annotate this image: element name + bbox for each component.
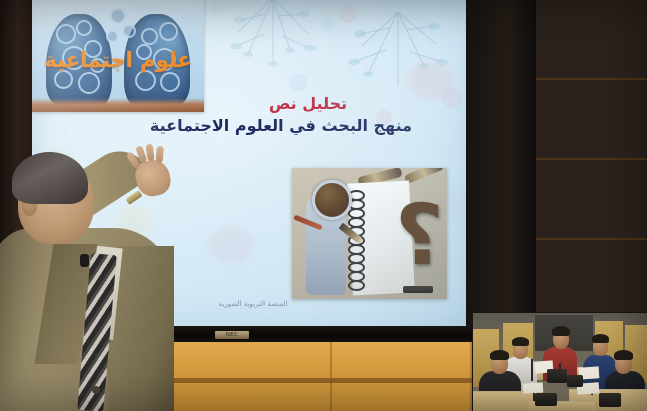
laptop-icon (599, 393, 621, 407)
projector-brand-label: NEC (215, 331, 249, 339)
video-frame: علوم اجتماعية تحليل نص منهج البحث في الع… (0, 0, 647, 411)
slide-title: تحليل نص (178, 94, 438, 113)
screen-frame-right (466, 0, 536, 340)
participant-1-hair (490, 350, 509, 360)
laptop-icon (535, 393, 557, 406)
presenter (0, 150, 220, 411)
participant-3-hair (552, 326, 570, 336)
question-mark-icon: ؟ (395, 192, 441, 288)
paper-sheet (523, 382, 544, 393)
participant-2-hair (512, 337, 529, 346)
presenter-hair (12, 152, 88, 204)
slide-center-image: ؟ (292, 168, 447, 299)
jacket-button (92, 386, 100, 394)
laptop-icon (567, 375, 583, 387)
slide-subtitle: منهج البحث في العلوم الاجتماعية (116, 116, 446, 135)
participant-5-hair (614, 350, 633, 360)
wall-seam (330, 342, 332, 411)
remote-classroom-inset[interactable] (472, 312, 647, 411)
magnifying-glass-icon (312, 180, 352, 220)
question-mark-base (403, 286, 433, 293)
pen-icon (404, 168, 444, 184)
lapel-microphone-icon (80, 254, 89, 267)
slide-photo-overlay-text: علوم اجتماعية (32, 48, 204, 72)
wall-panel-right (536, 0, 647, 330)
participant-4-hair (592, 334, 609, 343)
microphone-stand-icon (531, 359, 533, 381)
laptop-icon (547, 369, 567, 383)
